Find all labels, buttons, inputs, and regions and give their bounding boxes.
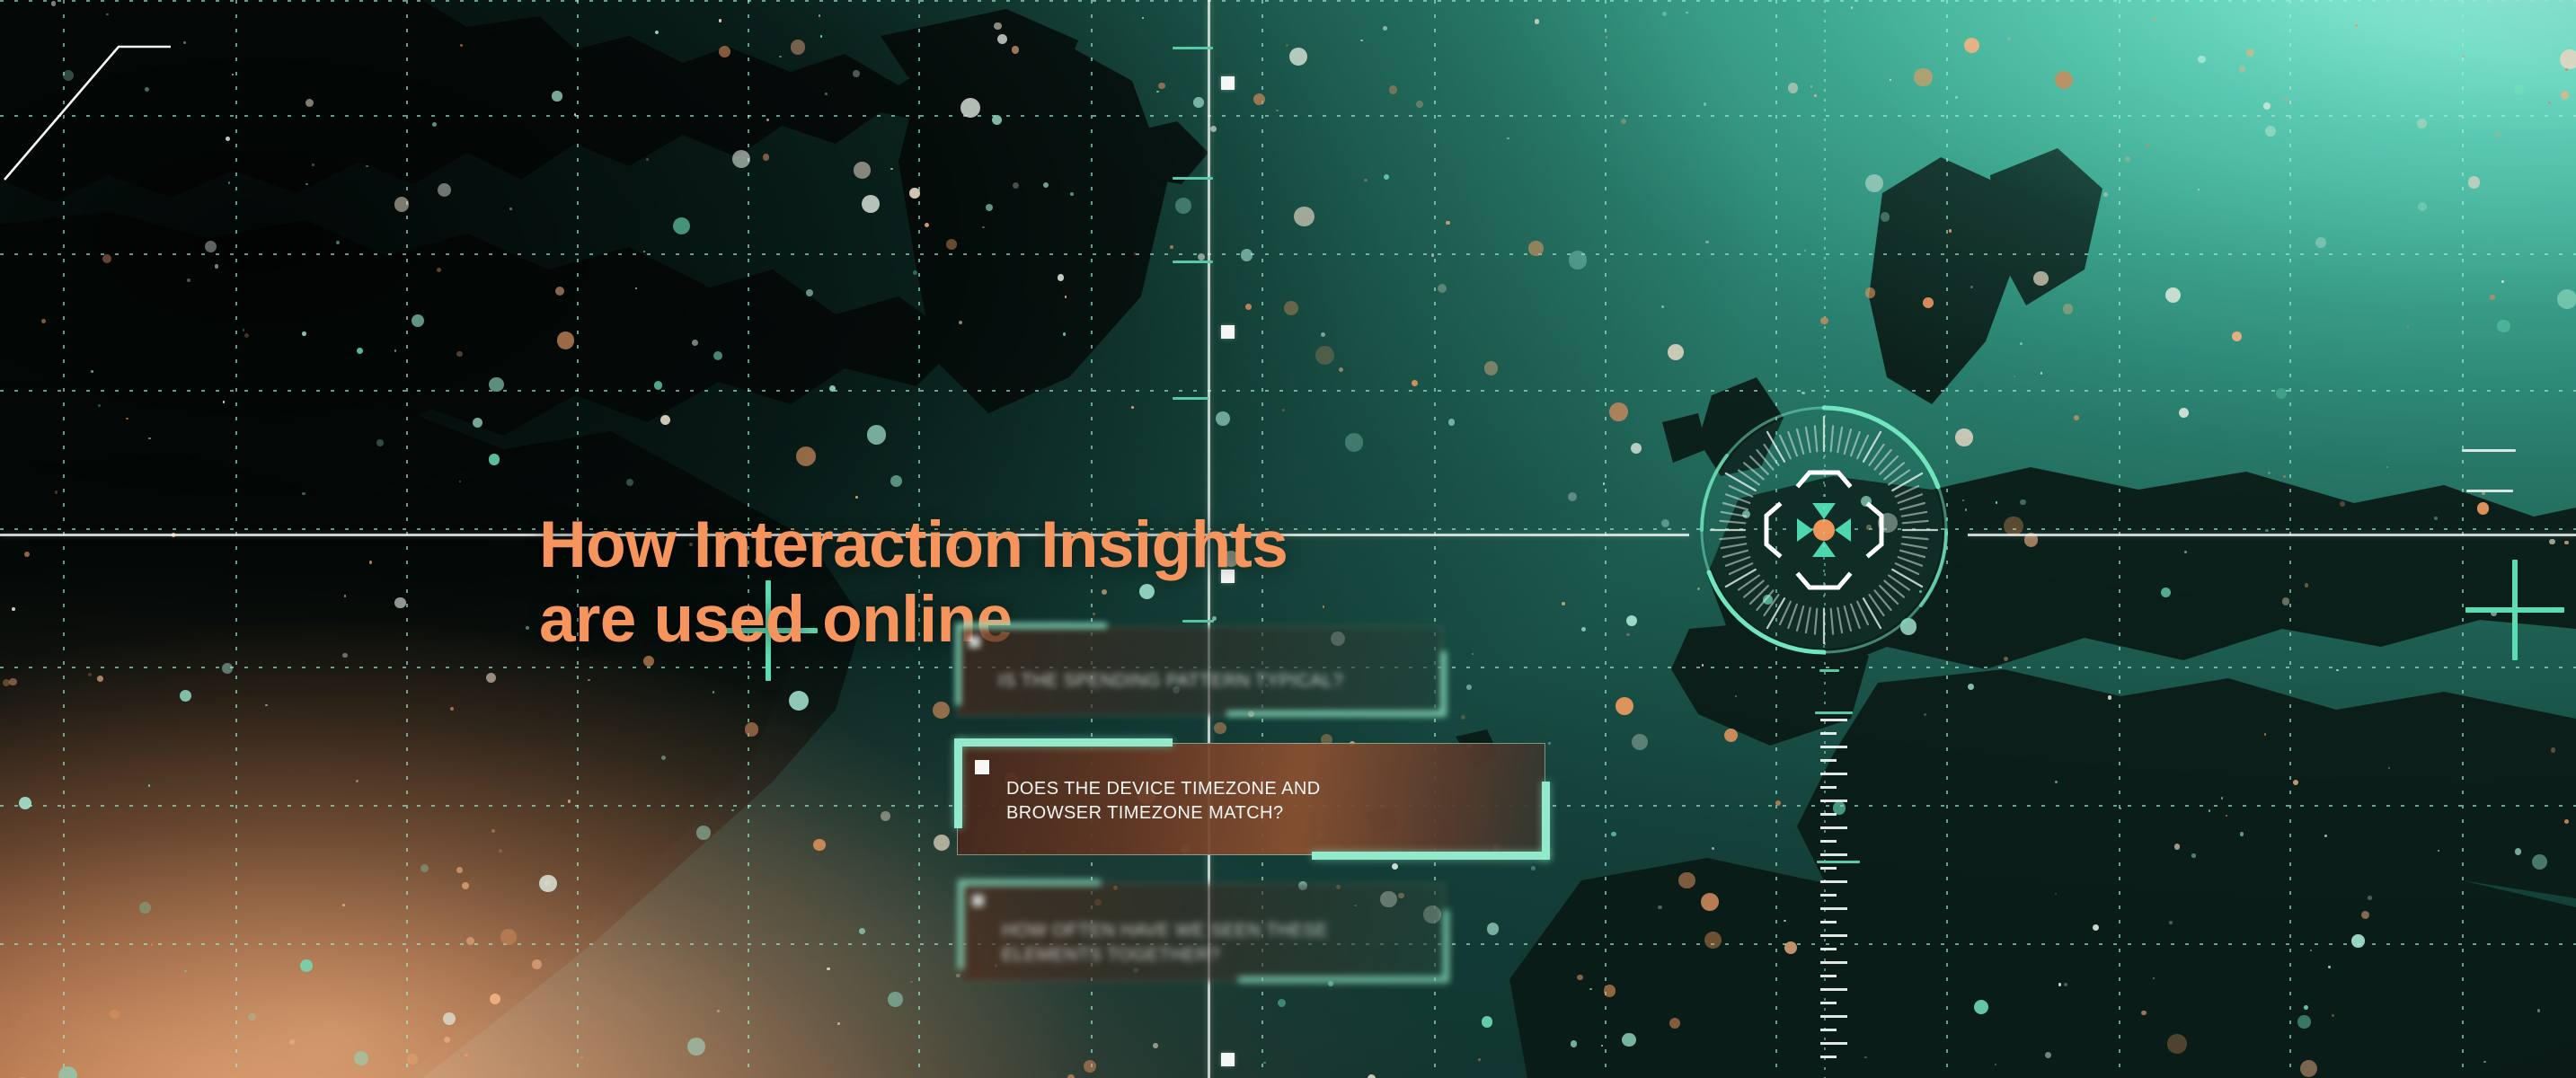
vignette bbox=[0, 0, 2576, 1078]
scene-root: How Interaction Insights are used online… bbox=[0, 0, 2576, 1078]
